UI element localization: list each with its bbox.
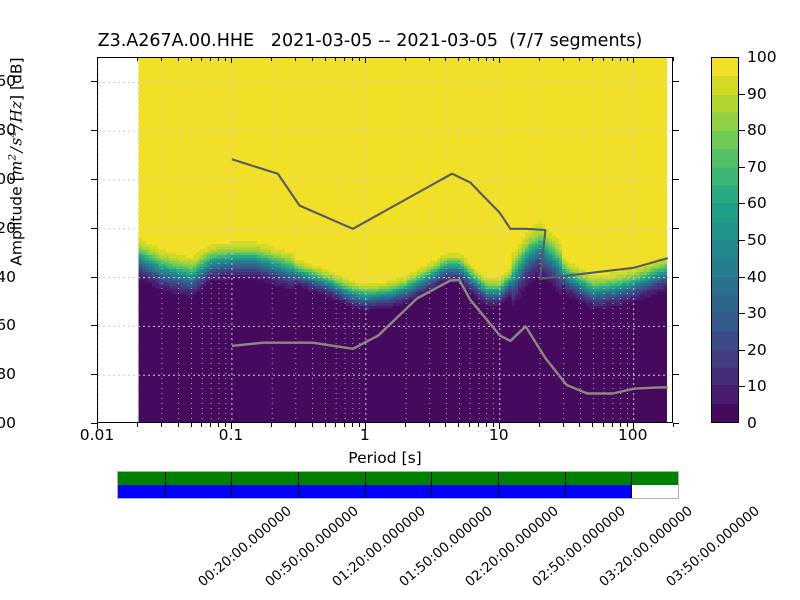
colorbar-tick-label: 80	[747, 121, 767, 139]
timeline-divider	[365, 472, 366, 498]
x-axis-minor-tick-top	[352, 57, 353, 61]
y-axis-tick-mark-right	[673, 277, 679, 278]
x-axis-minor-tick	[335, 423, 336, 427]
x-axis-tick-mark-top	[633, 57, 634, 63]
y-axis-tick-mark	[91, 81, 97, 82]
colorbar-gradient	[712, 58, 738, 422]
x-axis-minor-tick	[429, 423, 430, 427]
y-axis-tick-mark-right	[673, 228, 679, 229]
colorbar-tick-label: 10	[747, 377, 767, 395]
timeline-row-data-coverage[interactable]	[118, 472, 678, 485]
colorbar-tick-mark	[739, 313, 745, 314]
x-axis-minor-tick-top	[335, 57, 336, 61]
x-axis-minor-tick	[210, 423, 211, 427]
x-axis-minor-tick	[344, 423, 345, 427]
colorbar-tick-label: 0	[747, 414, 757, 432]
x-axis-minor-tick-top	[493, 57, 494, 61]
x-axis-minor-tick-top	[627, 57, 628, 61]
x-axis-minor-tick	[161, 423, 162, 427]
y-axis-tick-label: −140	[0, 268, 16, 286]
y-axis-tick-label: −120	[0, 219, 16, 237]
x-axis-minor-tick-top	[620, 57, 621, 61]
x-axis-tick-mark	[231, 423, 232, 429]
noise-model-curves	[98, 58, 673, 423]
colorbar-tick-label: 60	[747, 194, 767, 212]
x-axis-minor-tick-top	[325, 57, 326, 61]
x-axis-tick-mark-top	[231, 57, 232, 63]
x-axis-minor-tick	[325, 423, 326, 427]
x-axis-minor-tick-top	[539, 57, 540, 61]
x-axis-minor-tick	[312, 423, 313, 427]
timeline-divider	[298, 472, 299, 498]
x-axis-minor-tick-top	[210, 57, 211, 61]
x-axis-minor-tick	[458, 423, 459, 427]
y-axis-tick-mark	[91, 277, 97, 278]
x-axis-minor-tick-top	[191, 57, 192, 61]
colorbar-tick-mark	[739, 167, 745, 168]
x-axis-minor-tick	[218, 423, 219, 427]
x-axis-tick-mark	[633, 423, 634, 429]
x-axis-minor-tick	[612, 423, 613, 427]
x-axis-minor-tick-top	[603, 57, 604, 61]
nlnm-curve	[232, 280, 668, 394]
colorbar-tick-label: 100	[747, 48, 777, 66]
x-axis-minor-tick	[493, 423, 494, 427]
x-axis-minor-tick	[603, 423, 604, 427]
timeline-segment[interactable]	[118, 485, 631, 498]
x-axis-minor-tick	[445, 423, 446, 427]
x-axis-minor-tick	[539, 423, 540, 427]
x-axis-minor-tick	[620, 423, 621, 427]
x-axis-minor-tick-top	[178, 57, 179, 61]
colorbar	[711, 57, 739, 423]
x-axis-minor-tick-top	[312, 57, 313, 61]
coverage-timeline[interactable]	[117, 471, 679, 499]
x-axis-tick-mark-top	[365, 57, 366, 63]
y-axis-tick-mark-right	[673, 325, 679, 326]
x-axis-minor-tick-top	[344, 57, 345, 61]
x-axis-minor-tick-top	[486, 57, 487, 61]
x-axis-minor-tick-top	[592, 57, 593, 61]
ppsd-axes	[97, 57, 673, 423]
colorbar-tick-mark	[739, 350, 745, 351]
y-axis-tick-mark	[91, 374, 97, 375]
x-axis-minor-tick-top	[225, 57, 226, 61]
x-axis-minor-tick-top	[218, 57, 219, 61]
x-axis-minor-tick	[271, 423, 272, 427]
x-axis-minor-tick	[359, 423, 360, 427]
x-axis-label: Period [s]	[97, 449, 673, 467]
timeline-divider	[565, 472, 566, 498]
x-axis-minor-tick-top	[563, 57, 564, 61]
x-axis-minor-tick	[478, 423, 479, 427]
y-axis-unit-num-exp: 2	[6, 154, 18, 161]
x-axis-minor-tick-top	[161, 57, 162, 61]
y-axis-tick-label: −80	[0, 121, 16, 139]
x-axis-minor-tick	[201, 423, 202, 427]
timeline-divider	[431, 472, 432, 498]
colorbar-tick-mark	[739, 277, 745, 278]
y-axis-tick-mark	[91, 325, 97, 326]
y-axis-tick-label: −180	[0, 365, 16, 383]
x-axis-tick-mark	[97, 423, 98, 429]
x-axis-minor-tick	[191, 423, 192, 427]
x-axis-tick-mark-top	[97, 57, 98, 63]
y-axis-tick-mark-right	[673, 179, 679, 180]
x-axis-minor-tick-top	[405, 57, 406, 61]
x-axis-minor-tick-top	[137, 57, 138, 61]
x-axis-minor-tick	[225, 423, 226, 427]
x-axis-minor-tick-top	[478, 57, 479, 61]
colorbar-tick-mark	[739, 240, 745, 241]
timeline-divider	[631, 472, 632, 498]
x-axis-minor-tick-top	[673, 57, 674, 61]
x-axis-minor-tick-top	[469, 57, 470, 61]
y-axis-tick-mark-right	[673, 374, 679, 375]
y-axis-tick-label: −160	[0, 316, 16, 334]
y-axis-tick-mark	[91, 179, 97, 180]
x-axis-minor-tick	[295, 423, 296, 427]
y-axis-tick-mark	[91, 228, 97, 229]
colorbar-tick-label: 70	[747, 158, 767, 176]
x-axis-minor-tick	[469, 423, 470, 427]
x-axis-minor-tick-top	[612, 57, 613, 61]
page-title: Z3.A267A.00.HHE 2021-03-05 -- 2021-03-05…	[0, 31, 740, 51]
x-axis-minor-tick	[579, 423, 580, 427]
y-axis-unit-den2: Hz	[8, 101, 26, 123]
colorbar-tick-label: 50	[747, 231, 767, 249]
x-axis-minor-tick	[563, 423, 564, 427]
x-axis-minor-tick	[627, 423, 628, 427]
colorbar-tick-mark	[739, 386, 745, 387]
timeline-segment[interactable]	[118, 472, 678, 485]
y-axis-tick-mark-right	[673, 81, 679, 82]
colorbar-tick-mark	[739, 203, 745, 204]
colorbar-tick-mark	[739, 94, 745, 95]
x-axis-minor-tick-top	[445, 57, 446, 61]
x-axis-tick-mark	[499, 423, 500, 429]
timeline-divider	[165, 472, 166, 498]
ppsd-figure: Z3.A267A.00.HHE 2021-03-05 -- 2021-03-05…	[0, 0, 800, 600]
colorbar-tick-label: 90	[747, 85, 767, 103]
y-axis-tick-label: −200	[0, 414, 16, 432]
timeline-divider	[231, 472, 232, 498]
colorbar-tick-mark	[739, 130, 745, 131]
x-axis-minor-tick	[673, 423, 674, 427]
x-axis-minor-tick-top	[458, 57, 459, 61]
colorbar-tick-label: 30	[747, 304, 767, 322]
y-axis-tick-mark-right	[673, 130, 679, 131]
x-axis-minor-tick-top	[579, 57, 580, 61]
x-axis-minor-tick-top	[201, 57, 202, 61]
x-axis-minor-tick-top	[429, 57, 430, 61]
y-axis-tick-label: −100	[0, 170, 16, 188]
x-axis-minor-tick	[137, 423, 138, 427]
x-axis-minor-tick-top	[359, 57, 360, 61]
timeline-row-psd-segments[interactable]	[118, 485, 678, 498]
x-axis-tick-mark-top	[499, 57, 500, 63]
timeline-divider	[498, 472, 499, 498]
colorbar-tick-label: 20	[747, 341, 767, 359]
x-axis-tick-mark	[365, 423, 366, 429]
x-axis-minor-tick	[486, 423, 487, 427]
x-axis-minor-tick-top	[271, 57, 272, 61]
x-axis-minor-tick	[592, 423, 593, 427]
y-axis-tick-label: −60	[0, 72, 16, 90]
y-axis-tick-mark	[91, 130, 97, 131]
nhnm-curve	[232, 159, 668, 278]
colorbar-tick-label: 40	[747, 268, 767, 286]
x-axis-minor-tick	[352, 423, 353, 427]
x-axis-minor-tick-top	[295, 57, 296, 61]
x-axis-minor-tick	[405, 423, 406, 427]
x-axis-minor-tick	[178, 423, 179, 427]
